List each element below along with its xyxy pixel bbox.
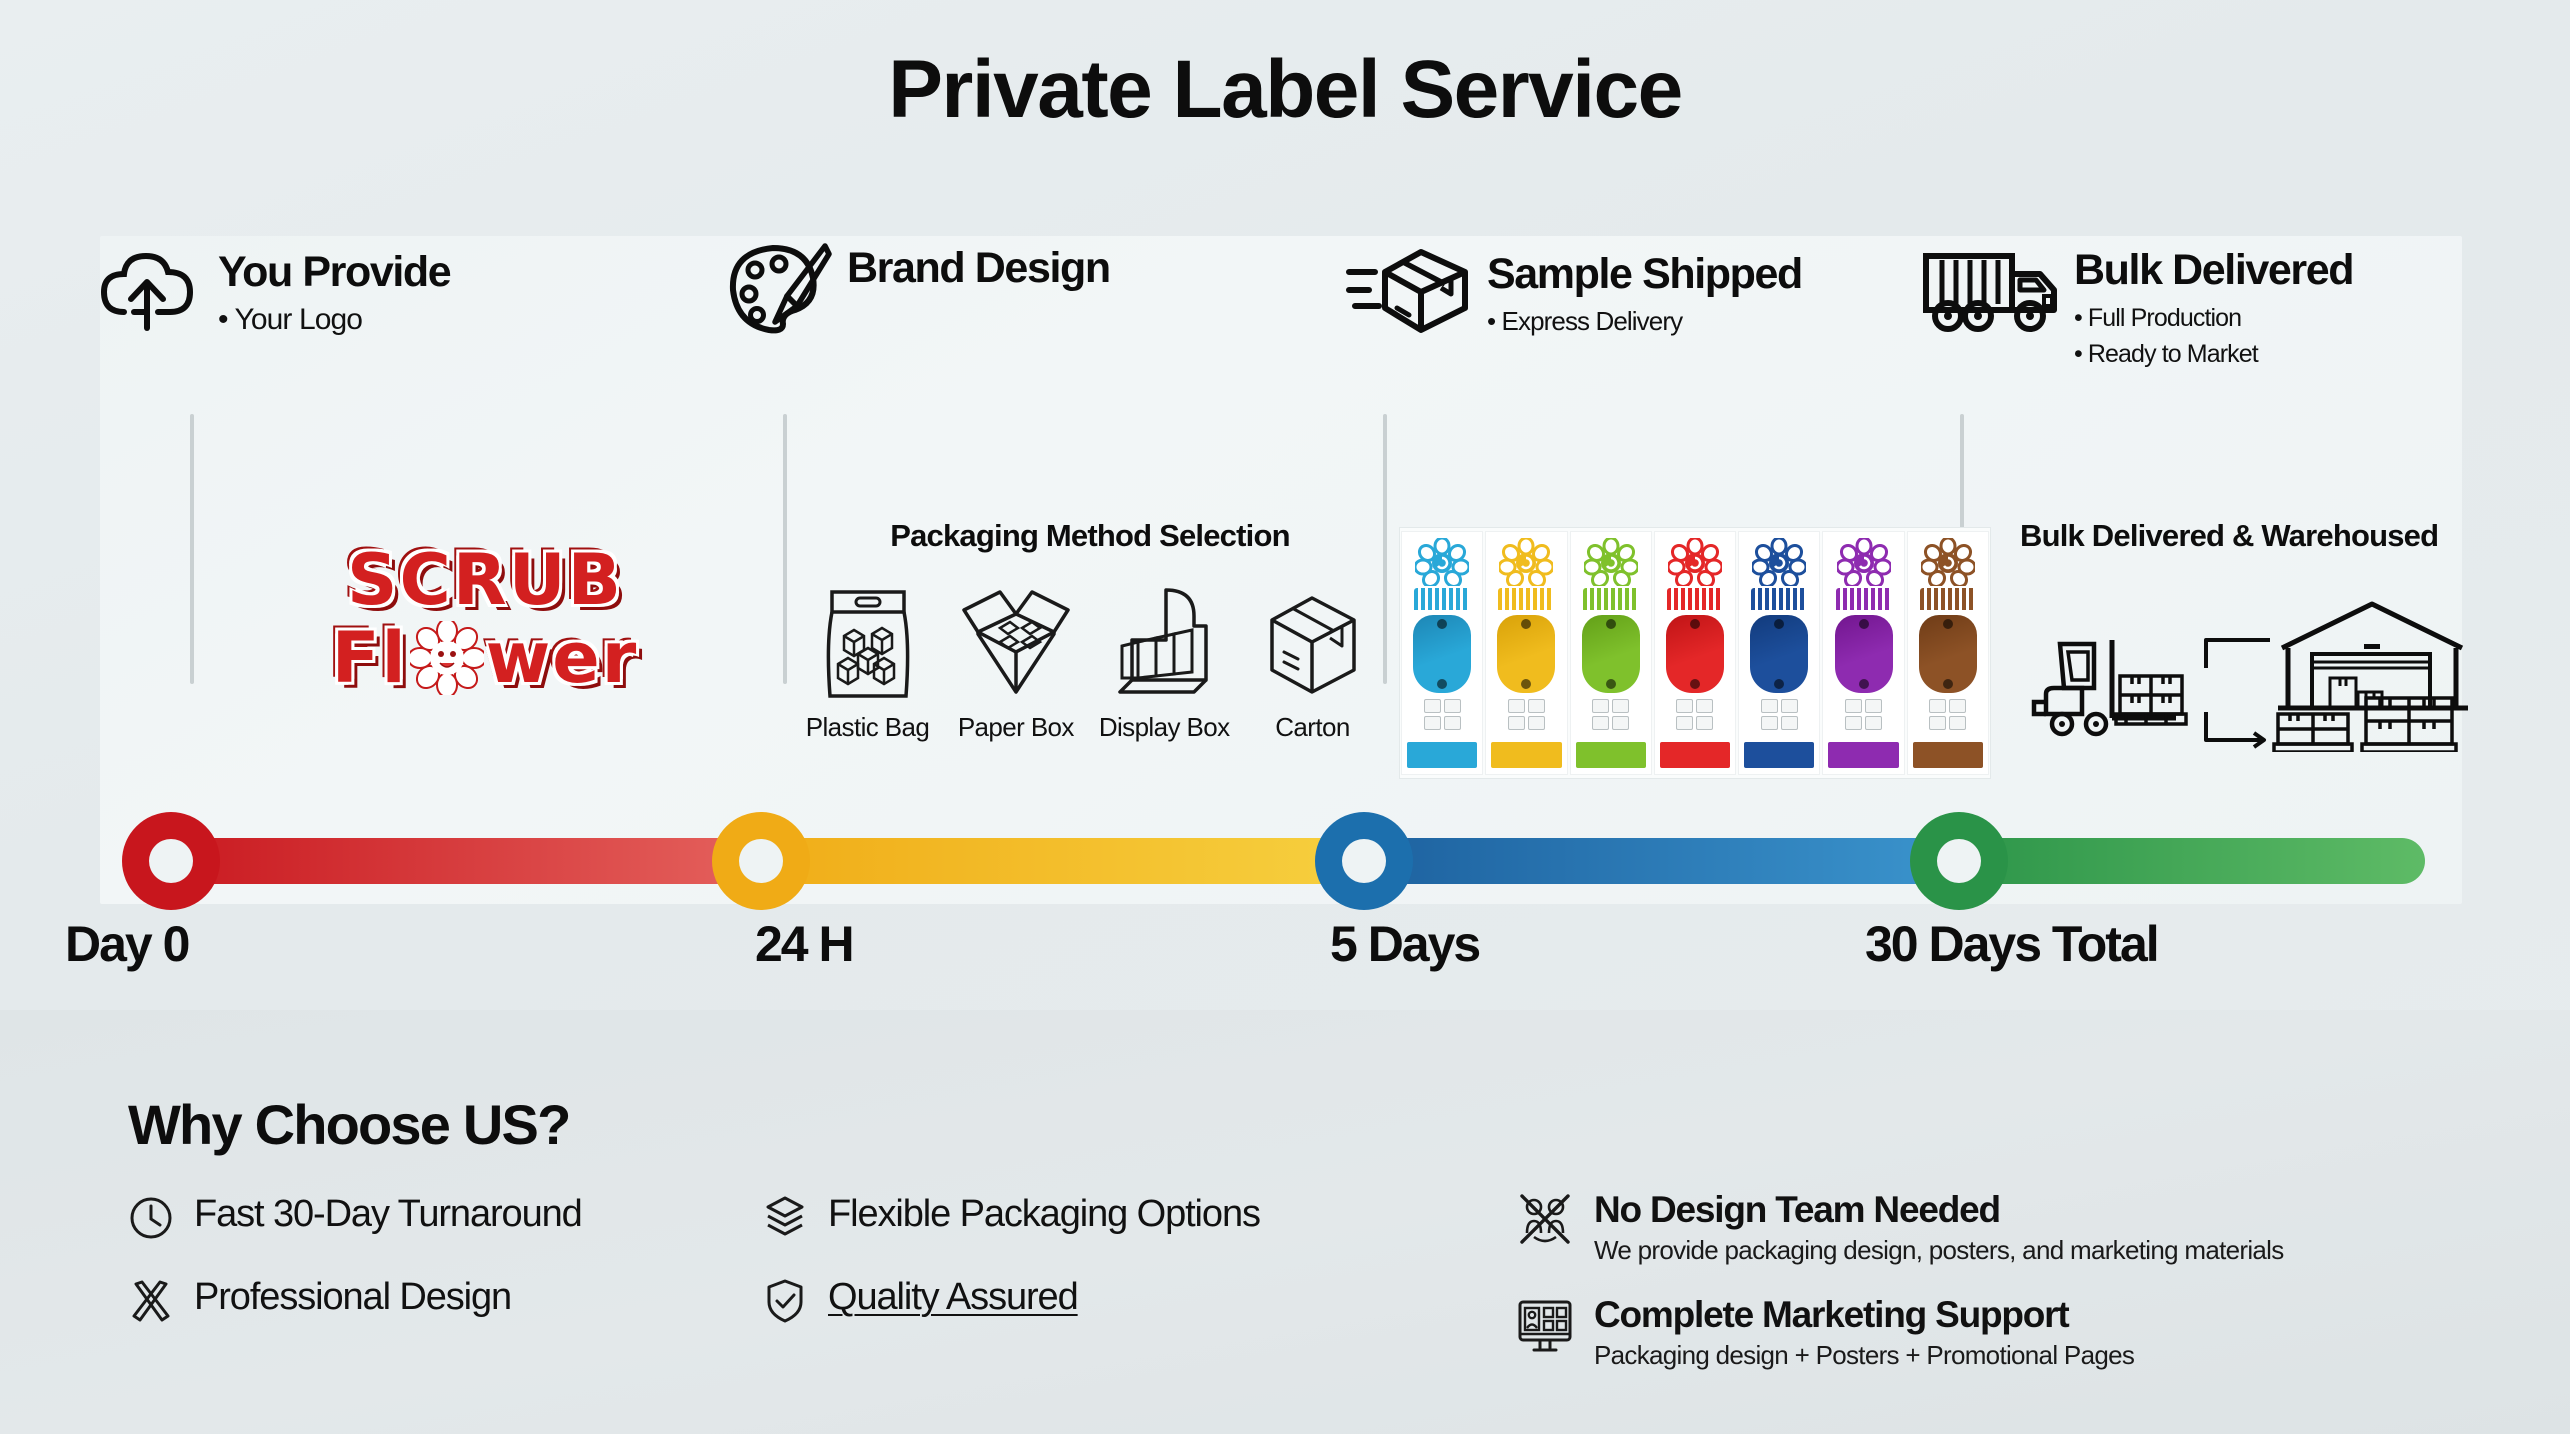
product-sample-card[interactable] xyxy=(1486,532,1566,774)
timeline-segment xyxy=(1335,838,1945,884)
closed-carton-icon xyxy=(1245,584,1380,702)
shield-check-icon xyxy=(762,1275,808,1329)
product-feature-icons xyxy=(1676,699,1713,730)
logo-text-flower: Fl wer xyxy=(332,621,638,695)
timeline-label-5-days: 5 Days xyxy=(1330,915,1479,973)
product-feature-icons xyxy=(1929,699,1966,730)
product-sample-card[interactable] xyxy=(1571,532,1651,774)
crossed-pencils-icon xyxy=(128,1275,174,1329)
feature-sublabel: Packaging design + Posters + Promotional… xyxy=(1594,1338,2134,1372)
product-feature-icons xyxy=(1845,699,1882,730)
packaging-options-row: Plastic Bag Paper Box xyxy=(800,584,1380,743)
product-texture-band xyxy=(1583,588,1639,610)
monitor-marketing-icon xyxy=(1516,1293,1574,1359)
process-timeline xyxy=(100,800,2462,904)
product-label-bar xyxy=(1744,742,1814,768)
logo-text-scrub: SCRUB xyxy=(347,545,623,615)
timeline-node[interactable] xyxy=(1315,812,1413,910)
packaging-option-label: Carton xyxy=(1245,712,1380,743)
packaging-method-section: Packaging Method Selection Plasti xyxy=(800,518,1380,743)
forklift-warehouse-icon xyxy=(2020,582,2530,757)
flower-graphic xyxy=(1668,538,1722,586)
stage-title: Brand Design xyxy=(847,244,1110,292)
flower-graphic xyxy=(1584,538,1638,586)
packaging-option-paper-box[interactable]: Paper Box xyxy=(948,584,1083,743)
connector-line-2 xyxy=(783,414,787,684)
product-texture-band xyxy=(1920,588,1976,610)
product-sample-card[interactable] xyxy=(1402,532,1482,774)
warehouse-section: Bulk Delivered & Warehoused xyxy=(2020,518,2530,757)
product-label-bar xyxy=(1828,742,1898,768)
clock-icon xyxy=(128,1192,174,1246)
timeline-node-center xyxy=(1937,839,1981,883)
feature-label: Fast 30-Day Turnaround xyxy=(194,1192,582,1236)
product-body xyxy=(1835,615,1893,693)
feature-quality-assured: Quality Assured xyxy=(762,1275,1078,1329)
packaging-section-title: Packaging Method Selection xyxy=(800,518,1380,554)
product-texture-band xyxy=(1751,588,1807,610)
packaging-option-label: Paper Box xyxy=(948,712,1083,743)
feature-label: Professional Design xyxy=(194,1275,511,1319)
timeline-labels: Day 0 24 H 5 Days 30 Days Total xyxy=(100,915,2500,995)
timeline-node[interactable] xyxy=(712,812,810,910)
product-feature-icons xyxy=(1424,699,1461,730)
product-texture-band xyxy=(1414,588,1470,610)
product-feature-icons xyxy=(1592,699,1629,730)
stage-bullet: • Your Logo xyxy=(218,302,450,338)
stage-bullet: • Full Production xyxy=(2074,300,2353,336)
plastic-bag-icon xyxy=(800,584,935,702)
stage-title: Bulk Delivered xyxy=(2074,246,2353,294)
page-title: Private Label Service xyxy=(0,0,2570,150)
timeline-label-24h: 24 H xyxy=(755,915,853,973)
product-sample-card[interactable] xyxy=(1908,532,1988,774)
timeline-node-center xyxy=(149,839,193,883)
connector-line-3 xyxy=(1383,414,1387,684)
why-choose-us-section: Why Choose US? Fast 30-Day Turnaround Pr… xyxy=(0,1010,2570,1434)
product-texture-band xyxy=(1836,588,1892,610)
timeline-label-30-days-total: 30 Days Total xyxy=(1865,915,2158,973)
product-label-bar xyxy=(1913,742,1983,768)
delivery-truck-icon xyxy=(1920,242,2060,338)
product-feature-icons xyxy=(1508,699,1545,730)
feature-sublabel: We provide packaging design, posters, an… xyxy=(1594,1233,2284,1267)
stage-header-sample-shipped: Sample Shipped • Express Delivery xyxy=(1345,246,1802,338)
feature-marketing-support: Complete Marketing Support Packaging des… xyxy=(1516,1293,2134,1372)
feature-professional-design: Professional Design xyxy=(128,1275,511,1329)
brand-logo-scrub-flower: SCRUB Fl wer xyxy=(290,530,680,710)
timeline-label-day-0: Day 0 xyxy=(65,915,188,973)
product-sample-card[interactable] xyxy=(1823,532,1903,774)
packaging-option-plastic-bag[interactable]: Plastic Bag xyxy=(800,584,935,743)
feature-no-design-team: No Design Team Needed We provide packagi… xyxy=(1516,1188,2284,1267)
stage-bullet: • Ready to Market xyxy=(2074,336,2353,372)
product-body xyxy=(1497,615,1555,693)
flower-graphic xyxy=(1921,538,1975,586)
timeline-node-center xyxy=(739,839,783,883)
feature-fast-turnaround: Fast 30-Day Turnaround xyxy=(128,1192,582,1246)
product-body xyxy=(1413,615,1471,693)
product-body xyxy=(1919,615,1977,693)
feature-label: Quality Assured xyxy=(828,1275,1078,1319)
product-sample-card[interactable] xyxy=(1739,532,1819,774)
product-label-bar xyxy=(1660,742,1730,768)
no-design-team-icon xyxy=(1516,1188,1574,1254)
timeline-node-center xyxy=(1342,839,1386,883)
flower-graphic xyxy=(1837,538,1891,586)
product-label-bar xyxy=(1407,742,1477,768)
stage-title: Sample Shipped xyxy=(1487,250,1802,298)
flower-graphic xyxy=(1499,538,1553,586)
stage-bullet: • Express Delivery xyxy=(1487,304,1802,338)
warehouse-section-title: Bulk Delivered & Warehoused xyxy=(2020,518,2530,554)
product-body xyxy=(1666,615,1724,693)
timeline-node[interactable] xyxy=(122,812,220,910)
packaging-option-label: Display Box xyxy=(1097,712,1232,743)
timeline-segment xyxy=(140,838,750,884)
feature-label: Flexible Packaging Options xyxy=(828,1192,1260,1236)
packaging-option-label: Plastic Bag xyxy=(800,712,935,743)
open-paper-box-icon xyxy=(948,584,1083,702)
timeline-node[interactable] xyxy=(1910,812,2008,910)
product-body xyxy=(1750,615,1808,693)
stage-title: You Provide xyxy=(218,248,450,296)
flower-icon xyxy=(410,621,484,695)
flower-graphic xyxy=(1415,538,1469,586)
stage-header-brand-design: Brand Design xyxy=(725,240,1110,336)
product-body xyxy=(1582,615,1640,693)
packaging-option-carton[interactable]: Carton xyxy=(1245,584,1380,743)
product-label-bar xyxy=(1576,742,1646,768)
why-choose-us-title: Why Choose US? xyxy=(128,1092,569,1157)
product-feature-icons xyxy=(1761,699,1798,730)
layered-box-icon xyxy=(762,1192,808,1246)
feature-label: Complete Marketing Support xyxy=(1594,1293,2134,1337)
product-samples-strip xyxy=(1400,528,1990,778)
product-texture-band xyxy=(1498,588,1554,610)
packaging-option-display-box[interactable]: Display Box xyxy=(1097,584,1232,743)
product-texture-band xyxy=(1667,588,1723,610)
stage-header-bulk-delivered: Bulk Delivered • Full Production • Ready… xyxy=(1920,242,2353,372)
feature-flexible-packaging: Flexible Packaging Options xyxy=(762,1192,1260,1246)
display-box-icon xyxy=(1097,584,1232,702)
product-sample-card[interactable] xyxy=(1655,532,1735,774)
timeline-segment xyxy=(730,838,1350,884)
logo-text-fl: Fl xyxy=(332,623,408,693)
connector-line-1 xyxy=(190,414,194,684)
shipping-box-icon xyxy=(1345,246,1473,336)
paint-palette-icon xyxy=(725,240,833,336)
stage-header-you-provide: You Provide • Your Logo xyxy=(100,244,450,338)
logo-text-wer: wer xyxy=(486,623,639,693)
flower-graphic xyxy=(1752,538,1806,586)
cloud-upload-icon xyxy=(100,244,204,336)
feature-label: No Design Team Needed xyxy=(1594,1188,2284,1232)
product-label-bar xyxy=(1491,742,1561,768)
